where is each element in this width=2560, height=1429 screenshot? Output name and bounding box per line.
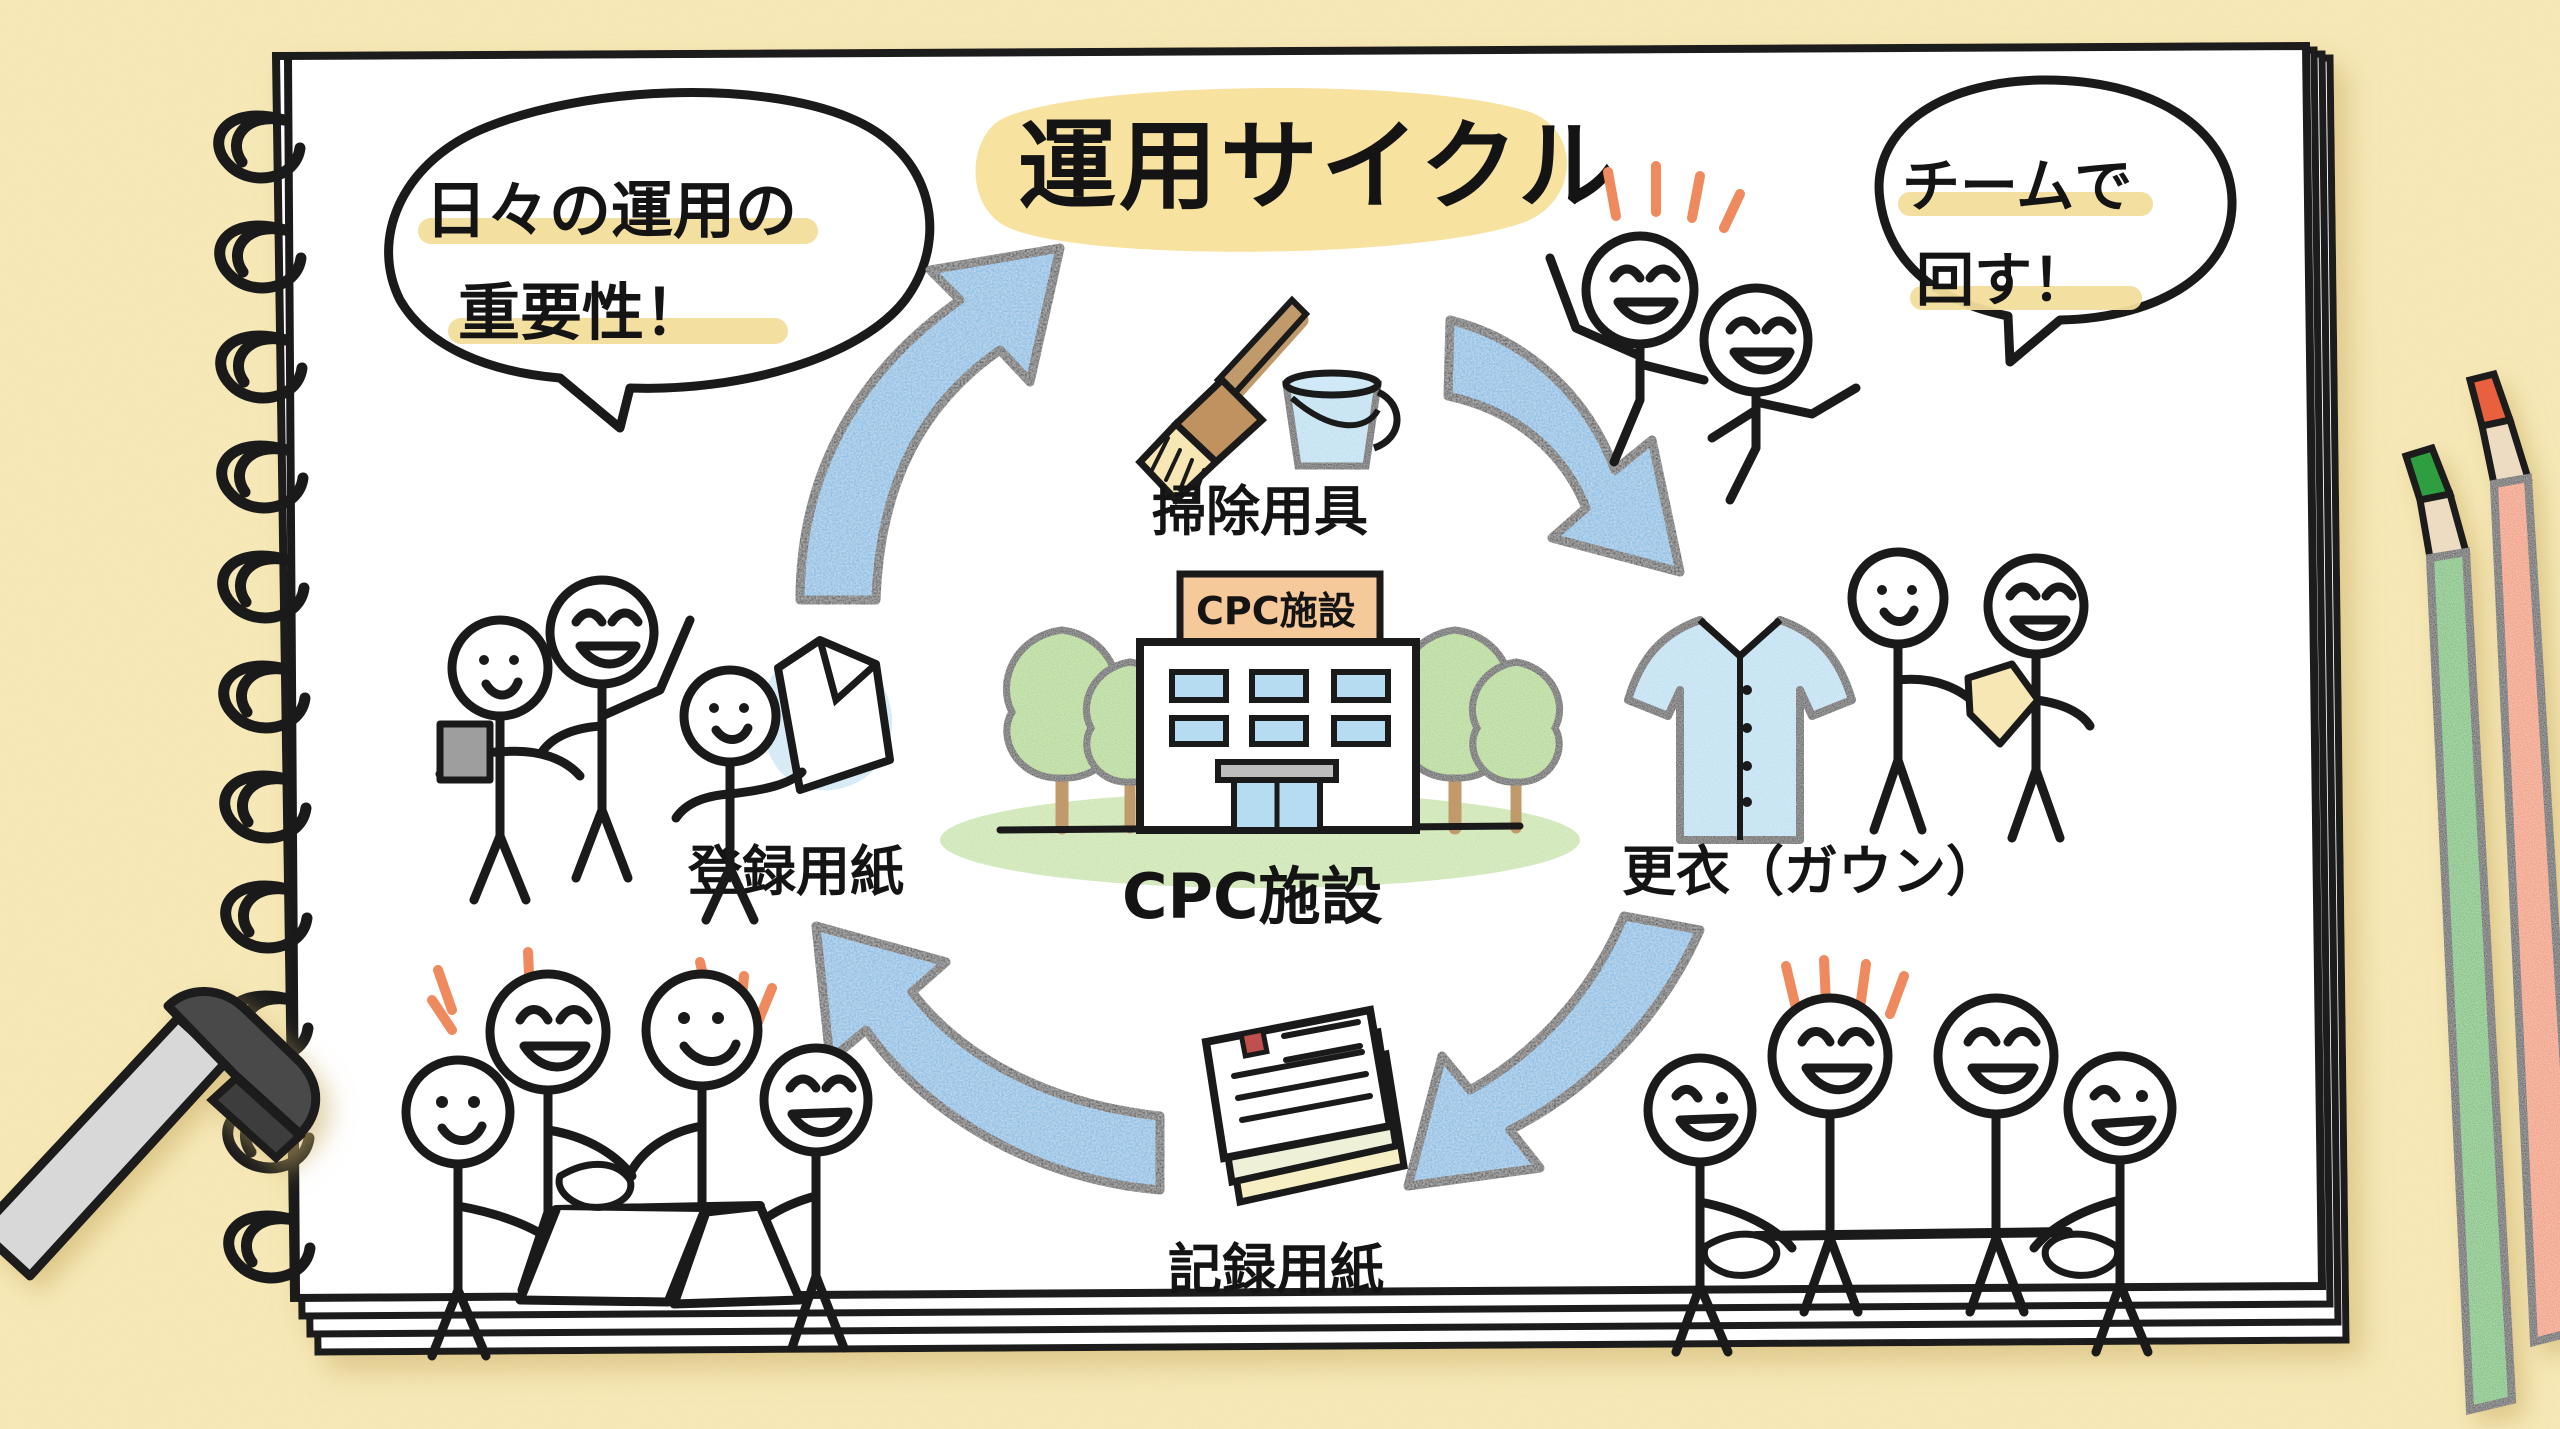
bubble-left-line-2: 重要性！ — [458, 276, 706, 349]
facility-window — [1172, 718, 1226, 744]
node-label-right: 更衣（ガウン） — [1622, 840, 2000, 903]
illustration-canvas: 運用サイクル 日々の運用の 重要性！ チームで 回す！ — [0, 0, 2560, 1429]
hands-on-table — [559, 1164, 631, 1207]
node-label-bottom: 記録用紙 — [1168, 1238, 1384, 1301]
facility-caption: CPC施設 — [1122, 860, 1382, 933]
page-title: 運用サイクル — [1018, 110, 1619, 224]
stamp-mark — [1241, 1030, 1267, 1056]
facility-window — [1252, 718, 1306, 744]
facility-sign-label: CPC施設 — [1196, 589, 1356, 633]
facility-window — [1334, 672, 1388, 700]
facility-window — [1172, 672, 1226, 700]
sketch-illustration: 運用サイクル 日々の運用の 重要性！ チームで 回す！ — [0, 0, 2560, 1429]
facility-window — [1334, 718, 1388, 744]
clipboard-icon — [440, 724, 490, 780]
bubble-right-line-2: 回す！ — [1916, 246, 2090, 314]
meeting-table — [1756, 1232, 2068, 1236]
node-label-top: 掃除用具 — [1152, 480, 1368, 543]
facility-window — [1252, 672, 1306, 700]
bubble-right-line-1: チームで — [1902, 152, 2132, 220]
bubble-left-line-1: 日々の運用の — [425, 174, 797, 247]
